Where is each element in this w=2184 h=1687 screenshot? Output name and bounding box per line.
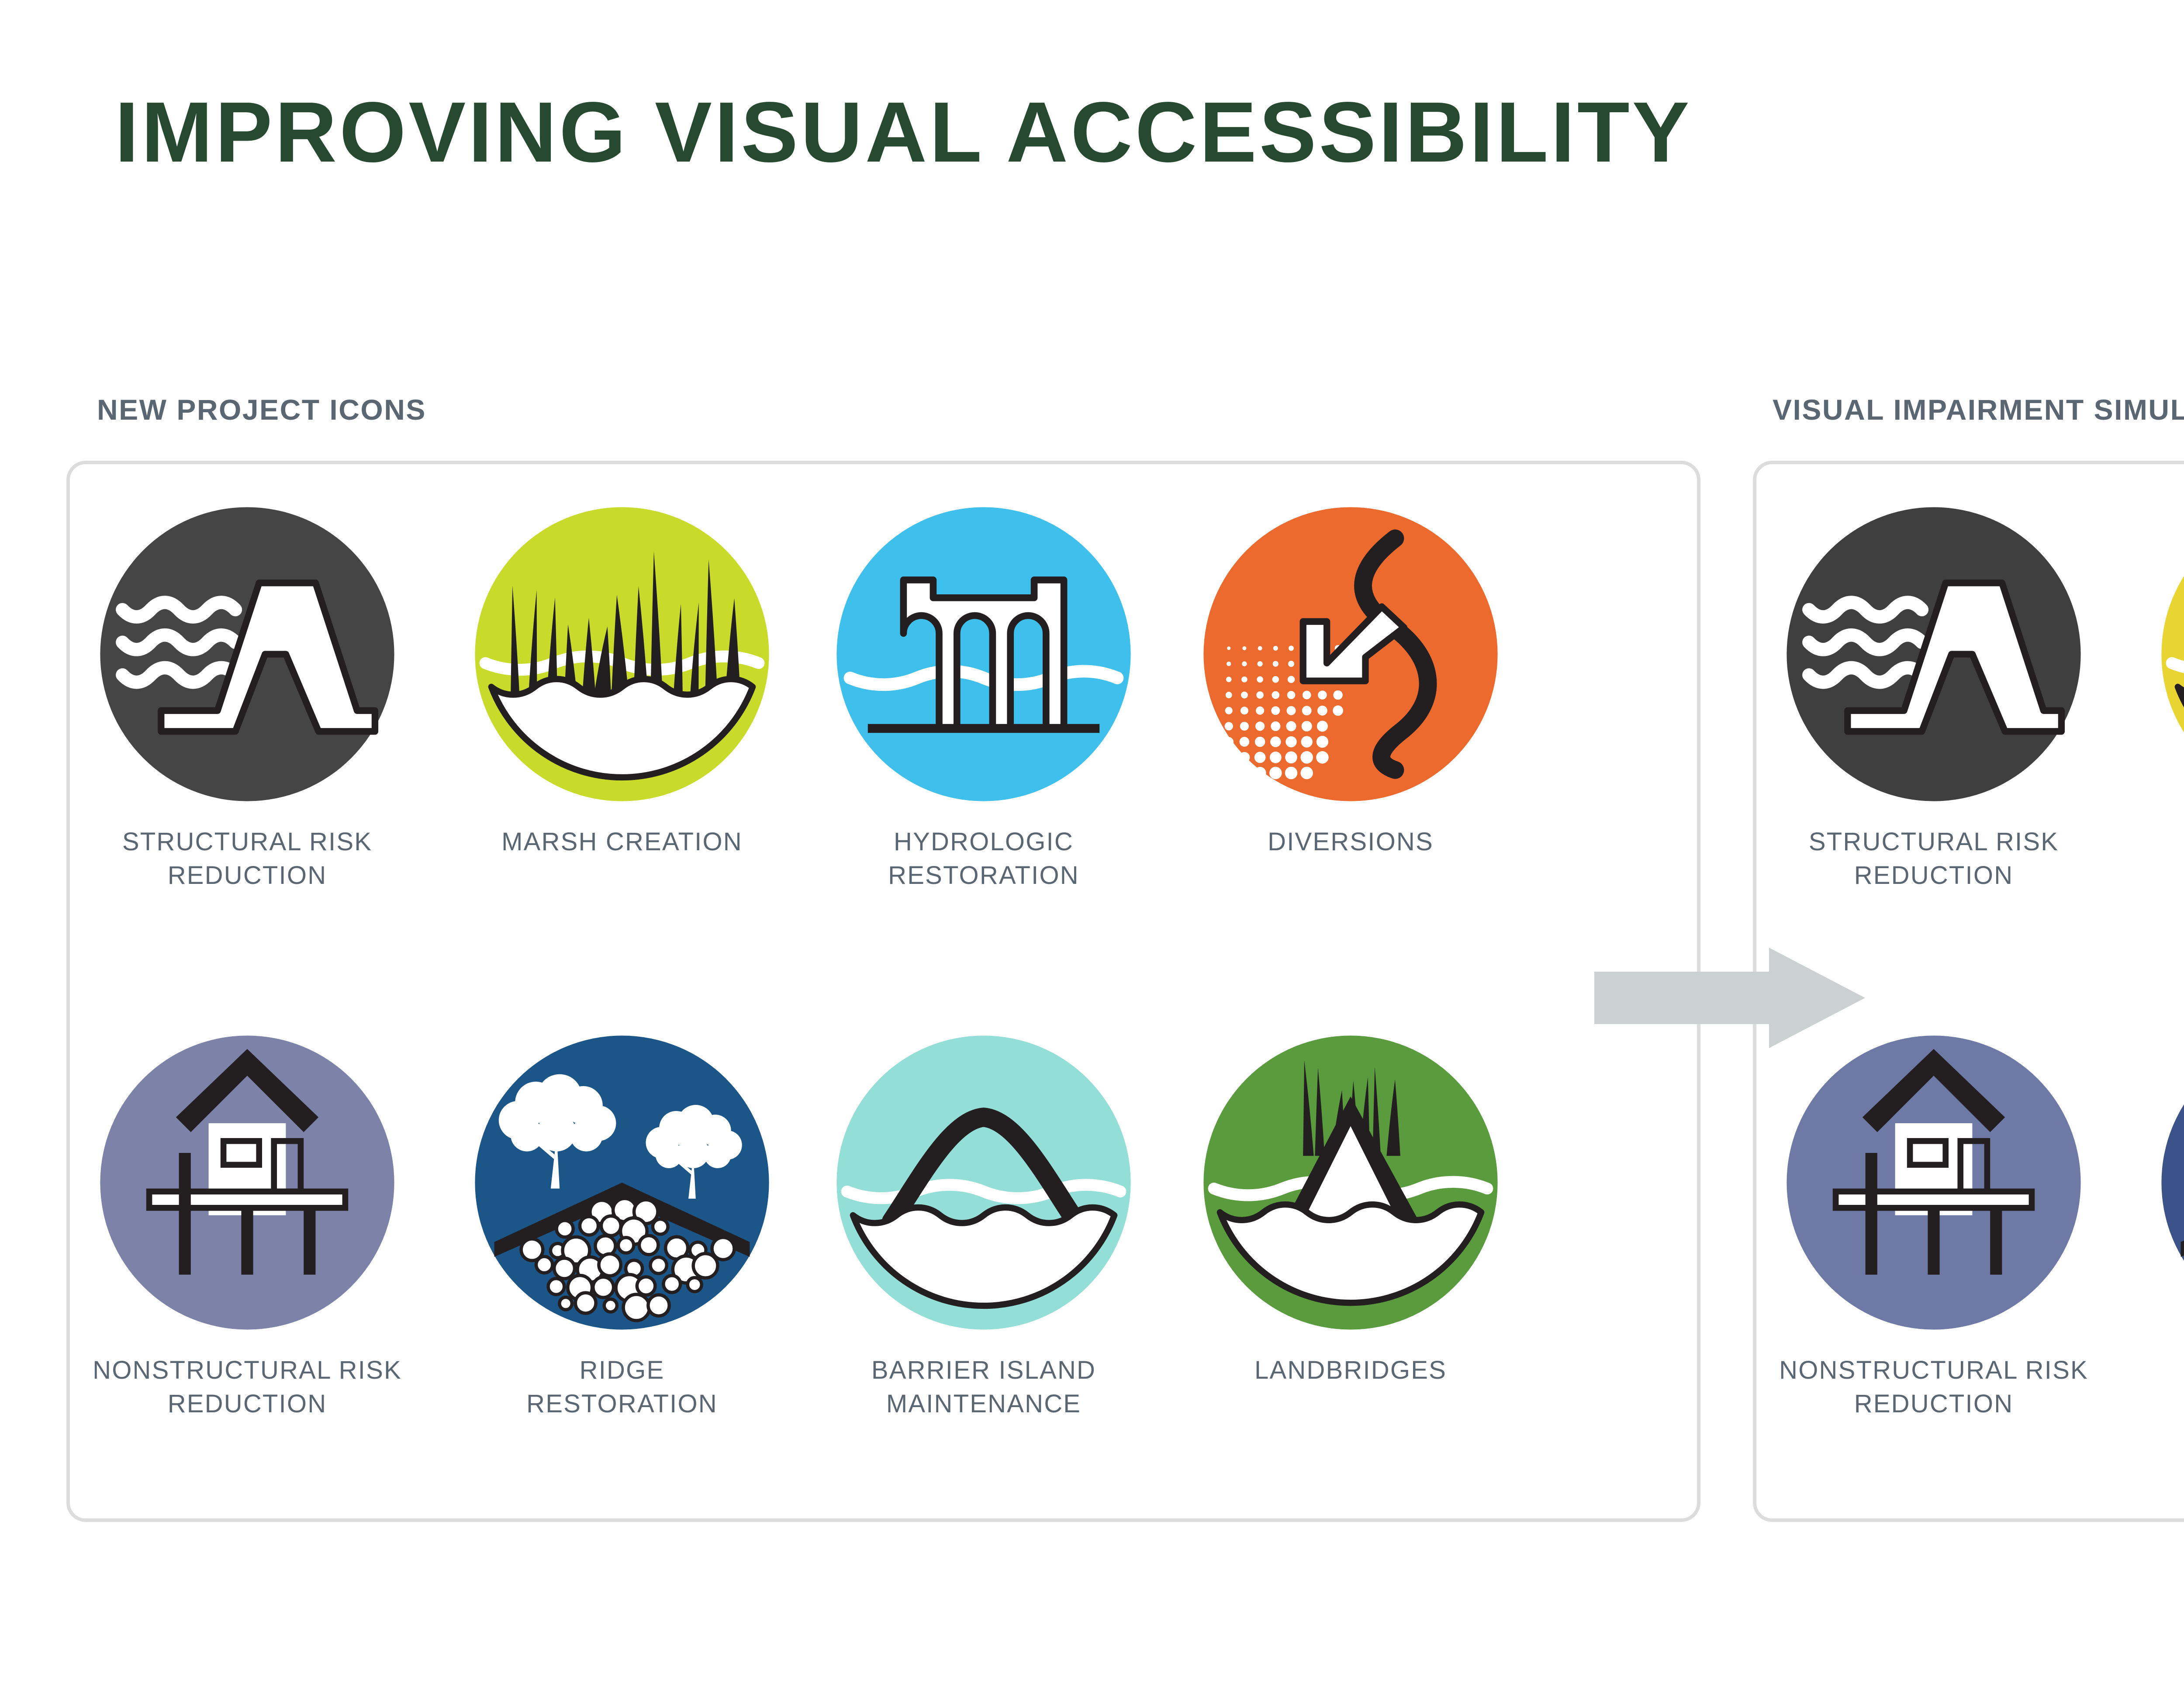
- icon-label-nonstructural-risk-reduction-simulated: NONSTRUCTURAL RISK REDUCTION: [1750, 1354, 2117, 1421]
- marsh-creation-icon[interactable]: [2160, 506, 2184, 803]
- panel-new-project-icons: STRUCTURAL RISK REDUCTIONMARSH CREATIONH…: [66, 461, 1700, 1522]
- diversions-icon[interactable]: [1202, 506, 1499, 803]
- icon-label-hydrologic-restoration-original: HYDROLOGIC RESTORATION: [800, 825, 1167, 892]
- icon-label-marsh-creation-simulated: MARSH CREATION: [2125, 825, 2184, 859]
- icon-label-structural-risk-reduction-simulated: STRUCTURAL RISK REDUCTION: [1750, 825, 2117, 892]
- icon-label-diversions-original: DIVERSIONS: [1167, 825, 1534, 859]
- structural-risk-reduction-icon[interactable]: [99, 506, 396, 803]
- icon-grid-original: STRUCTURAL RISK REDUCTIONMARSH CREATIONH…: [70, 464, 1697, 1518]
- icon-label-nonstructural-risk-reduction-original: NONSTRUCTURAL RISK REDUCTION: [64, 1354, 431, 1421]
- icon-card-structural-risk-reduction-simulated[interactable]: STRUCTURAL RISK REDUCTION: [1750, 506, 2117, 892]
- icon-card-marsh-creation-original[interactable]: MARSH CREATION: [439, 506, 805, 859]
- right-arrow-icon: [1594, 948, 1865, 1048]
- icon-label-structural-risk-reduction-original: STRUCTURAL RISK REDUCTION: [64, 825, 431, 892]
- icon-card-barrier-island-maintenance-original[interactable]: BARRIER ISLAND MAINTENANCE: [800, 1034, 1167, 1421]
- icon-card-ridge-restoration-original[interactable]: RIDGE RESTORATION: [439, 1034, 805, 1421]
- icon-card-ridge-restoration-simulated[interactable]: RIDGE RESTORATION: [2125, 1034, 2184, 1421]
- ridge-restoration-icon[interactable]: [473, 1034, 771, 1331]
- structural-risk-reduction-icon[interactable]: [1785, 506, 2082, 803]
- icon-card-diversions-original[interactable]: DIVERSIONS: [1167, 506, 1534, 859]
- nonstructural-risk-reduction-icon[interactable]: [99, 1034, 396, 1331]
- section-header-new-project-icons: NEW PROJECT ICONS: [97, 393, 426, 426]
- hydrologic-restoration-icon[interactable]: [835, 506, 1132, 803]
- page-title: IMPROVING VISUAL ACCESSIBILITY: [115, 90, 1692, 175]
- icon-card-structural-risk-reduction-original[interactable]: STRUCTURAL RISK REDUCTION: [64, 506, 431, 892]
- icon-card-landbridges-original[interactable]: LANDBRIDGES: [1167, 1034, 1534, 1387]
- icon-label-ridge-restoration-simulated: RIDGE RESTORATION: [2125, 1354, 2184, 1421]
- icon-card-hydrologic-restoration-original[interactable]: HYDROLOGIC RESTORATION: [800, 506, 1167, 892]
- icon-label-barrier-island-maintenance-original: BARRIER ISLAND MAINTENANCE: [800, 1354, 1167, 1421]
- icon-card-nonstructural-risk-reduction-simulated[interactable]: NONSTRUCTURAL RISK REDUCTION: [1750, 1034, 2117, 1421]
- icon-label-landbridges-original: LANDBRIDGES: [1167, 1354, 1534, 1387]
- icon-card-nonstructural-risk-reduction-original[interactable]: NONSTRUCTURAL RISK REDUCTION: [64, 1034, 431, 1421]
- icon-label-marsh-creation-original: MARSH CREATION: [439, 825, 805, 859]
- landbridges-icon[interactable]: [1202, 1034, 1499, 1331]
- ridge-restoration-icon[interactable]: [2160, 1034, 2184, 1331]
- icon-label-ridge-restoration-original: RIDGE RESTORATION: [439, 1354, 805, 1421]
- marsh-creation-icon[interactable]: [473, 506, 771, 803]
- nonstructural-risk-reduction-icon[interactable]: [1785, 1034, 2082, 1331]
- icon-card-marsh-creation-simulated[interactable]: MARSH CREATION: [2125, 506, 2184, 859]
- barrier-island-maintenance-icon[interactable]: [835, 1034, 1132, 1331]
- section-header-visual-impairment-simulator: VISUAL IMPAIRMENT SIMULATOR: [1773, 393, 2184, 426]
